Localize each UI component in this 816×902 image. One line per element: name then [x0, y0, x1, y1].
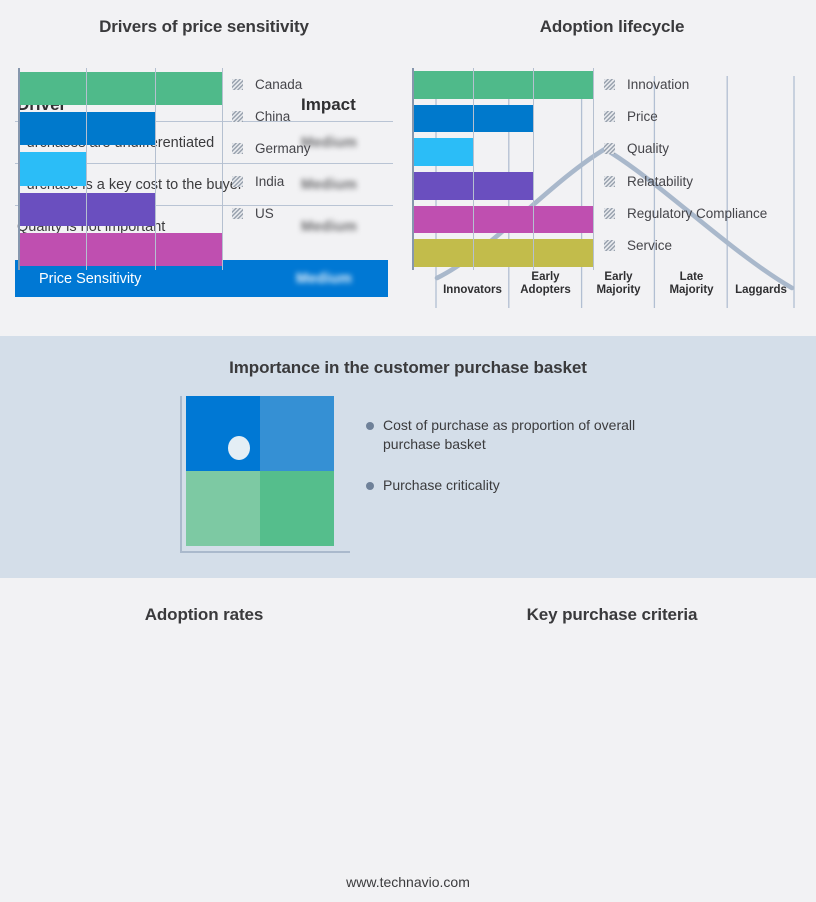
adoption-bars-container	[18, 68, 223, 270]
legend-label: Quality	[627, 141, 669, 156]
adoption-gridline-3	[222, 68, 223, 270]
list-item: US	[232, 197, 311, 229]
legend-label: India	[255, 174, 284, 189]
list-item: Innovation	[604, 68, 767, 100]
list-item: Quality	[604, 133, 767, 165]
lifecycle-label-early-adopters: EarlyAdopters	[510, 271, 581, 297]
bar-track	[412, 68, 594, 102]
quadrant-x-axis	[180, 551, 350, 553]
hatched-swatch-icon	[604, 176, 615, 187]
quadrant-grid	[186, 396, 334, 546]
legend-label: US	[255, 206, 274, 221]
legend-label: Price	[627, 109, 658, 124]
purchase-basket-quadrant-chart	[176, 396, 352, 561]
bar-canada	[18, 72, 223, 105]
bar-track	[412, 236, 594, 270]
quadrant-position-marker	[228, 436, 250, 460]
impact-value: Medium	[301, 135, 393, 151]
bar-track	[18, 149, 223, 189]
list-item: Service	[604, 229, 767, 261]
bar-track	[412, 102, 594, 136]
list-item: Germany	[232, 133, 311, 165]
adoption-rates-panel: Adoption rates	[0, 578, 408, 902]
legend-label: Relatability	[627, 174, 693, 189]
adoption-panel-title: Adoption rates	[0, 605, 408, 625]
bar-track	[18, 189, 223, 229]
list-item: Cost of purchase as proportion of overal…	[366, 416, 656, 454]
list-item: Price	[604, 100, 767, 132]
list-item: Relatability	[604, 165, 767, 197]
bar-quality	[412, 138, 473, 166]
bar-track	[412, 169, 594, 203]
impact-value: Medium	[301, 219, 393, 235]
bar-track	[18, 68, 223, 108]
criteria-panel-title: Key purchase criteria	[408, 605, 816, 625]
legend-label: Innovation	[627, 77, 689, 92]
quadrant-y-axis	[180, 396, 182, 552]
bar-us	[18, 233, 223, 266]
adoption-rates-chart	[18, 68, 223, 270]
summary-label: Price Sensitivity	[37, 271, 296, 287]
drivers-panel-title: Drivers of price sensitivity	[0, 17, 408, 37]
column-header-impact: Impact	[301, 95, 393, 115]
list-item: Purchase criticality	[366, 476, 656, 495]
hatched-swatch-icon	[604, 79, 615, 90]
purchase-basket-panel: Importance in the customer purchase bask…	[0, 336, 816, 578]
quadrant-cell-bottom-left	[186, 471, 260, 546]
bar-service	[412, 239, 594, 267]
hatched-swatch-icon	[232, 208, 243, 219]
adoption-rates-legend: Canada China Germany India US	[232, 68, 311, 229]
key-purchase-criteria-legend: Innovation Price Quality Relatability Re…	[604, 68, 767, 262]
lifecycle-panel-title: Adoption lifecycle	[408, 17, 816, 37]
bar-track	[412, 203, 594, 237]
adoption-gridline-1	[86, 68, 87, 270]
footer-url: www.technavio.com	[0, 874, 816, 890]
quadrant-cell-bottom-right	[260, 471, 334, 546]
criteria-gridline-3	[593, 68, 594, 270]
bullet-dot-icon	[366, 482, 374, 490]
list-item: India	[232, 165, 311, 197]
bar-regulatory-compliance	[412, 206, 594, 234]
lifecycle-label-innovators: Innovators	[436, 284, 509, 297]
legend-label: China	[255, 109, 290, 124]
bar-innovation	[412, 71, 594, 99]
quadrant-cell-top-left	[186, 396, 260, 471]
legend-label: Purchase criticality	[383, 476, 500, 495]
list-item: Canada	[232, 68, 311, 100]
hatched-swatch-icon	[604, 111, 615, 122]
criteria-bars-container	[412, 68, 594, 270]
hatched-swatch-icon	[604, 208, 615, 219]
lifecycle-label-laggards: Laggards	[728, 284, 794, 297]
bar-track	[18, 230, 223, 270]
hatched-swatch-icon	[232, 79, 243, 90]
lifecycle-label-early-majority: EarlyMajority	[583, 271, 654, 297]
bar-track	[412, 135, 594, 169]
infographic-page: Drivers of price sensitivity Driver Impa…	[0, 0, 816, 902]
summary-impact-redacted: Medium	[296, 271, 352, 287]
hatched-swatch-icon	[232, 143, 243, 154]
quadrant-cell-top-right	[260, 396, 334, 471]
legend-label: Service	[627, 238, 672, 253]
hatched-swatch-icon	[604, 143, 615, 154]
bullet-dot-icon	[366, 422, 374, 430]
lifecycle-label-late-majority: LateMajority	[656, 271, 727, 297]
basket-panel-title: Importance in the customer purchase bask…	[0, 358, 816, 378]
criteria-gridline-2	[533, 68, 534, 270]
hatched-swatch-icon	[232, 111, 243, 122]
list-item: Regulatory Compliance	[604, 197, 767, 229]
hatched-swatch-icon	[604, 240, 615, 251]
adoption-gridline-2	[155, 68, 156, 270]
summary-impact-value: Medium	[296, 271, 388, 287]
bar-track	[18, 108, 223, 148]
list-item: China	[232, 100, 311, 132]
key-purchase-criteria-panel: Key purchase criteria	[408, 578, 816, 902]
key-purchase-criteria-chart	[412, 68, 594, 270]
bar-germany	[18, 152, 86, 185]
criteria-gridline-1	[473, 68, 474, 270]
hatched-swatch-icon	[232, 176, 243, 187]
legend-label: Cost of purchase as proportion of overal…	[383, 416, 656, 454]
legend-label: Canada	[255, 77, 302, 92]
adoption-chart-y-axis	[18, 68, 20, 270]
legend-label: Germany	[255, 141, 311, 156]
legend-label: Regulatory Compliance	[627, 206, 767, 221]
criteria-chart-y-axis	[412, 68, 414, 270]
purchase-basket-legend: Cost of purchase as proportion of overal…	[366, 416, 656, 517]
impact-value: Medium	[301, 177, 393, 193]
